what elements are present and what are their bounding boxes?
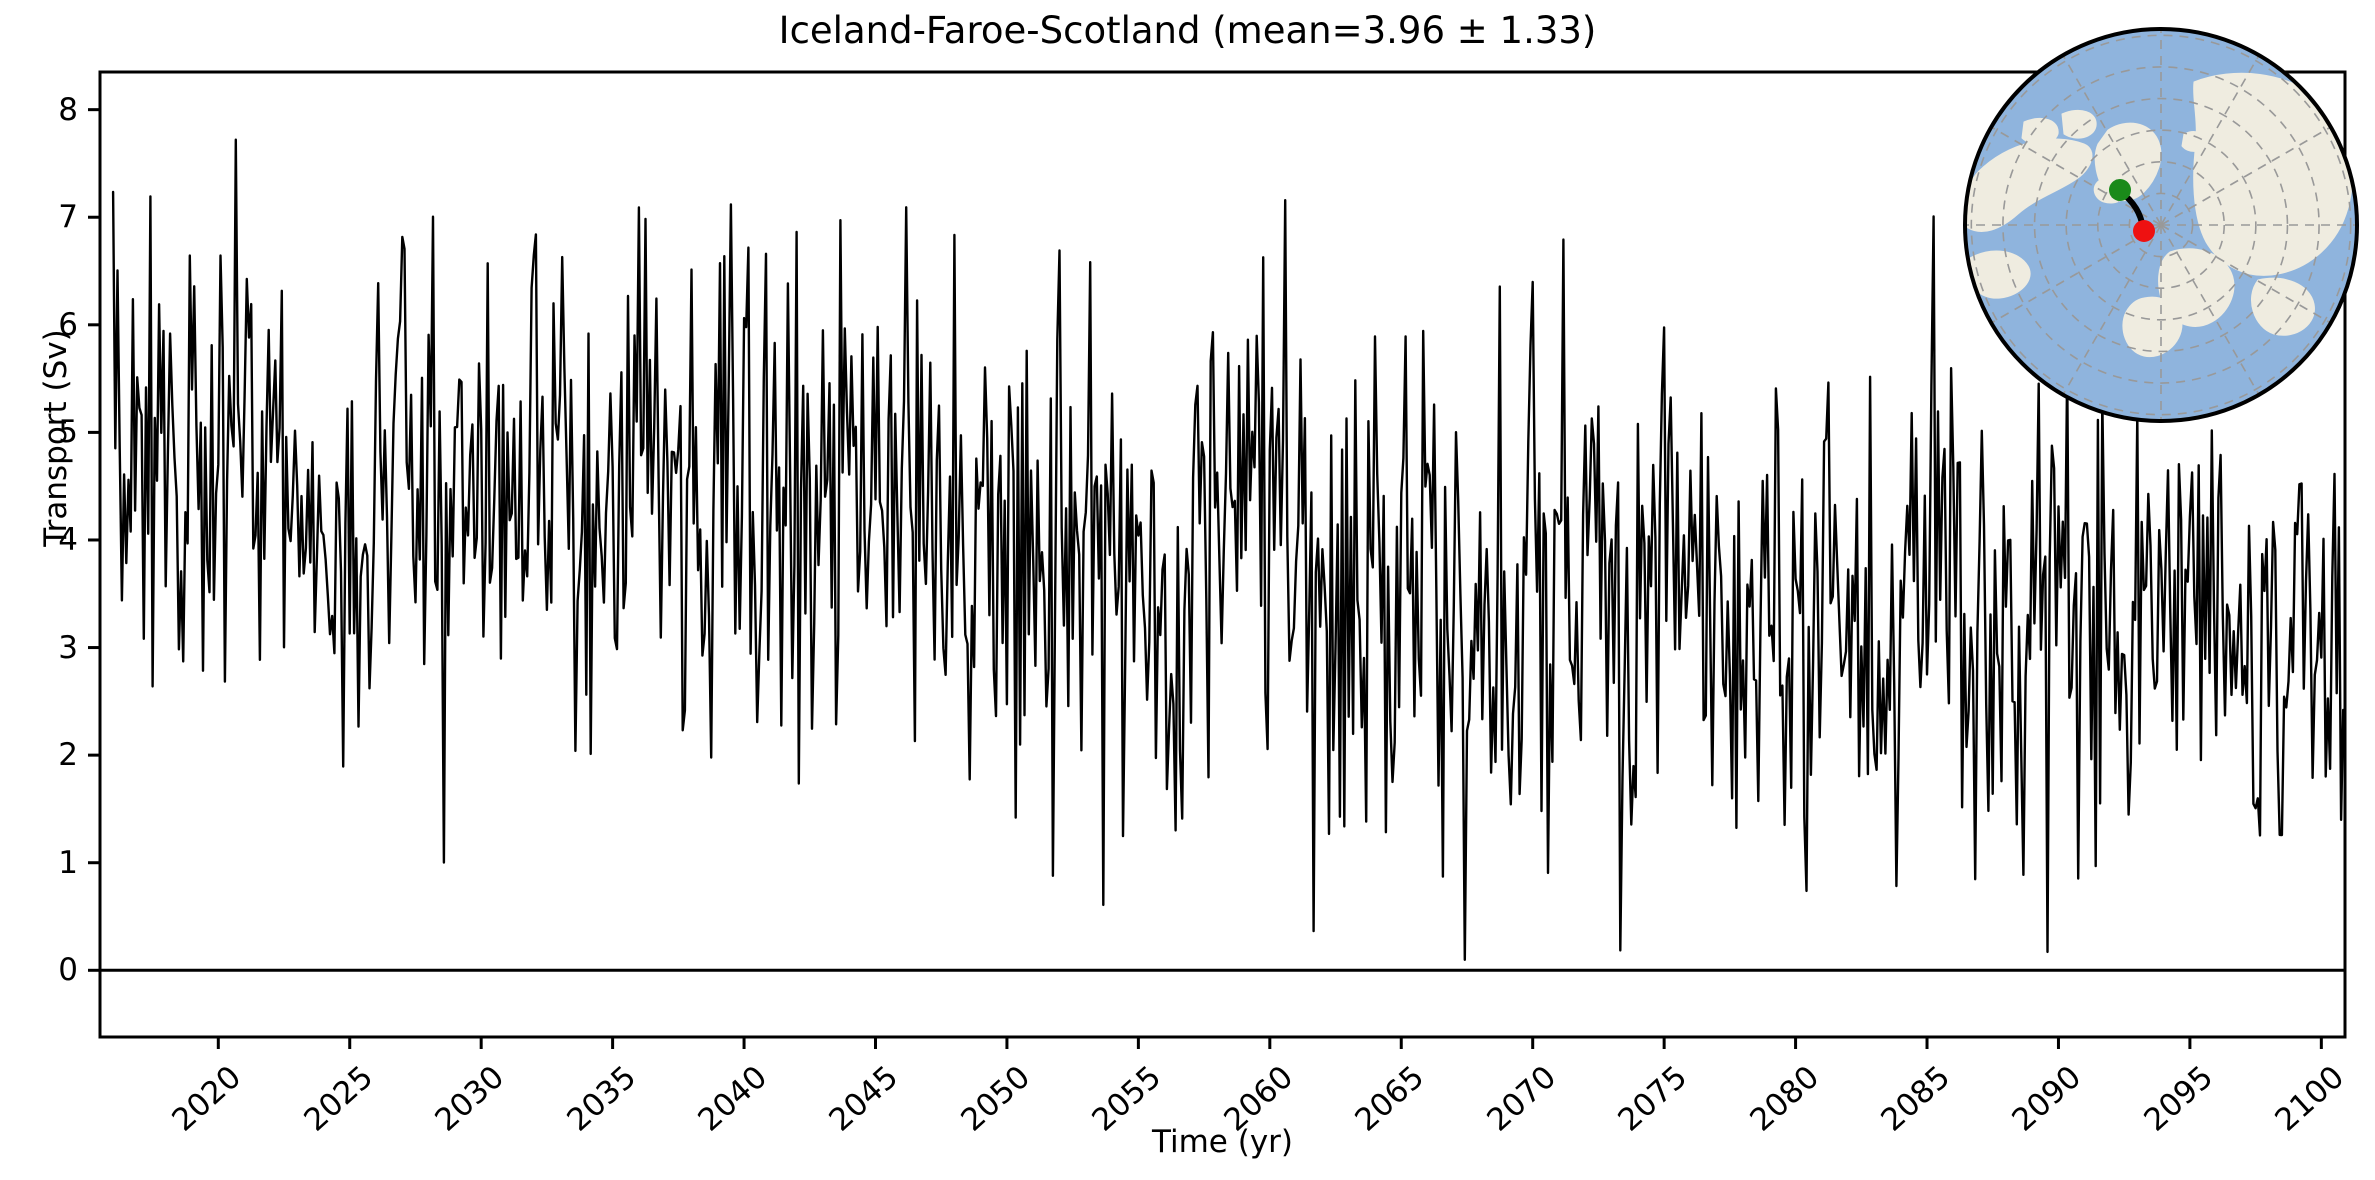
iceland-endpoint-marker [2109,179,2131,201]
y-tick-label: 3 [18,630,78,666]
inset-map [1958,22,2364,428]
y-tick-label: 2 [18,737,78,773]
land-polygon [2022,118,2058,144]
scotland-endpoint-marker [2133,220,2155,242]
y-tick-label: 4 [18,522,78,558]
figure: Iceland-Faroe-Scotland (mean=3.96 ± 1.33… [0,0,2375,1180]
inset-map-svg [1958,22,2364,428]
y-tick-label: 6 [18,307,78,343]
y-tick-label: 1 [18,845,78,881]
y-tick-label: 7 [18,199,78,235]
land-polygon [2224,139,2251,163]
y-tick-label: 0 [18,952,78,988]
y-tick-label: 5 [18,414,78,450]
y-tick-label: 8 [18,92,78,128]
land-polygon [2182,132,2206,152]
land-polygon [2062,110,2096,138]
land-polygon [2194,73,2352,275]
